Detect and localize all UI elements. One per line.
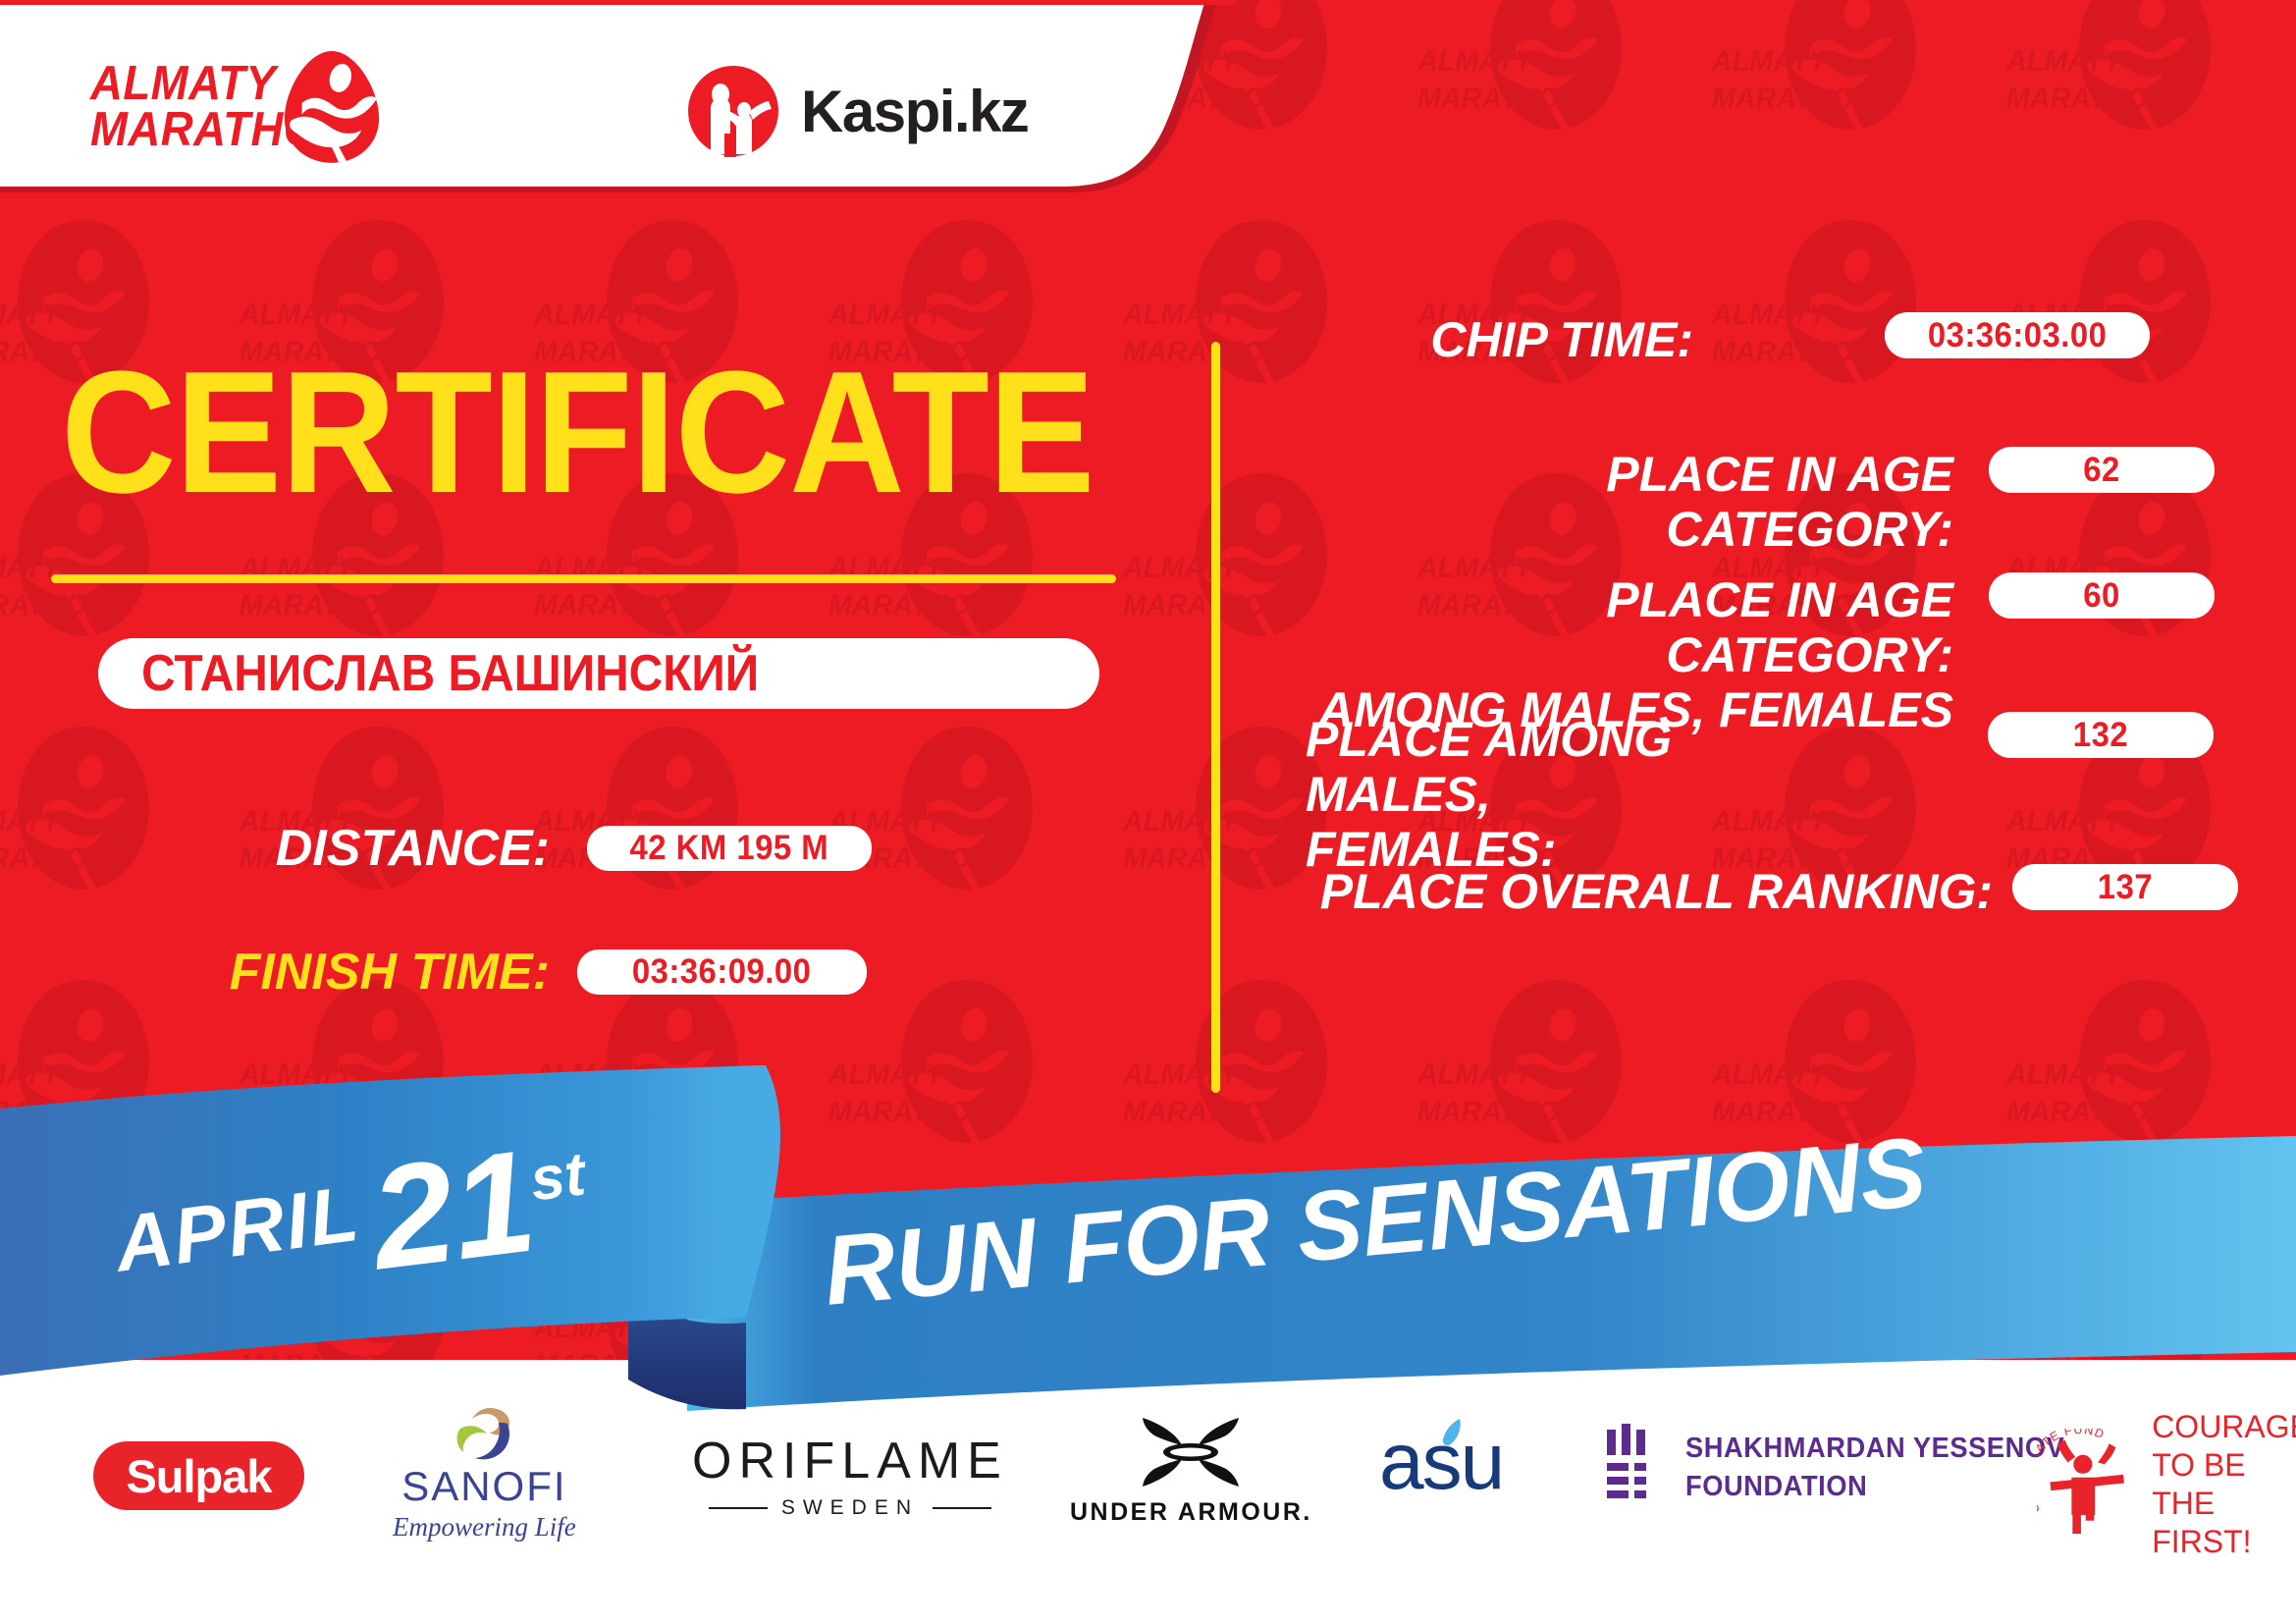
sponsor-logo-oriflame: ORIFLAME SWEDEN xyxy=(692,1432,1008,1520)
certificate-right-column: CHIP TIME: 03:36:03.00 PLACE IN AGE CATE… xyxy=(1217,295,2296,1110)
place-among-males-females-row: PLACE AMONG MALES, FEMALES: 132 xyxy=(1306,712,2214,877)
oriflame-rule-right xyxy=(933,1507,991,1509)
sanofi-wordmark: SANOFI xyxy=(401,1463,566,1510)
courage-wordmark: COURAGE TO BE THE FIRST! xyxy=(2152,1408,2296,1561)
certificate-canvas: ALMATY MARATHON ALMATY MARATHON xyxy=(0,0,2296,1624)
finish-time-value: 03:36:09.00 xyxy=(632,952,812,992)
distance-row: DISTANCE: 42 KM 195 M xyxy=(265,819,872,878)
finish-time-value-pill: 03:36:09.00 xyxy=(577,949,867,995)
chip-time-label: CHIP TIME: xyxy=(1306,312,1693,367)
place-age-category-value: 62 xyxy=(2083,451,2120,490)
sponsor-logo-asu: asu xyxy=(1379,1426,1526,1504)
title-underline-rule xyxy=(51,574,1116,583)
courage-runner-tape-icon: CORPORATE FUND xyxy=(2037,1429,2140,1542)
oriflame-rule-left xyxy=(709,1507,768,1509)
ribbon-day-label: 21st xyxy=(363,1111,598,1304)
place-overall-ranking-value: 137 xyxy=(2098,868,2153,907)
chip-time-value: 03:36:03.00 xyxy=(1928,316,2108,355)
oriflame-wordmark: ORIFLAME xyxy=(692,1432,1008,1490)
asu-leaf-icon xyxy=(1440,1418,1466,1447)
header-top-rule xyxy=(0,0,1237,5)
page-title: CERTIFICATE xyxy=(61,346,1094,519)
ribbon-month-label: APRIL xyxy=(110,1168,365,1290)
place-overall-ranking-label: PLACE OVERALL RANKING: xyxy=(1306,864,1993,919)
sulpak-pill-logo: Sulpak xyxy=(93,1441,304,1510)
sponsor-logo-row: Sulpak SANOFI Empowering Life ORIFLAME S… xyxy=(0,1394,2296,1610)
finish-time-label: FINISH TIME: xyxy=(187,943,550,1001)
place-age-category-among-value: 60 xyxy=(2083,576,2120,616)
sponsor-logo-sanofi: SANOFI Empowering Life xyxy=(393,1406,576,1543)
almaty-marathon-logo: ALMATY MARATHON xyxy=(90,47,385,167)
place-age-category-row: PLACE IN AGE CATEGORY: 62 xyxy=(1306,447,2215,557)
distance-value: 42 KM 195 M xyxy=(630,829,829,868)
teardrop-runner-icon xyxy=(279,49,385,165)
kaspi-family-circle-icon xyxy=(687,65,779,157)
kaspi-logo: Kaspi.kz xyxy=(687,57,1028,165)
ribbon-day-suffix: st xyxy=(527,1140,589,1214)
certificate-left-column: CERTIFICATE СТАНИСЛАВ БАШИНСКИЙ DISTANCE… xyxy=(0,295,1217,1110)
under-armour-mark-icon xyxy=(1133,1416,1249,1489)
sponsor-logo-under-armour: UNDER ARMOUR. xyxy=(1070,1416,1312,1527)
yessenov-wordmark: SHAKHMARDAN YESSENOV FOUNDATION xyxy=(1685,1430,2064,1506)
sulpak-wordmark: Sulpak xyxy=(126,1449,271,1503)
asu-logo-box: asu xyxy=(1379,1426,1526,1504)
place-age-category-label: PLACE IN AGE CATEGORY: xyxy=(1306,447,1953,557)
ribbon-day-number: 21 xyxy=(363,1120,544,1301)
ribbon-slogan: RUN FOR SENSATIONS xyxy=(820,1115,1931,1328)
chip-time-value-pill: 03:36:03.00 xyxy=(1885,312,2150,358)
place-among-males-females-value-pill: 132 xyxy=(1988,712,2214,758)
yessenov-bars-icon xyxy=(1605,1424,1662,1512)
sanofi-bird-icon xyxy=(451,1406,517,1461)
chip-time-row: CHIP TIME: 03:36:03.00 xyxy=(1306,312,2150,367)
athlete-name-field: СТАНИСЛАВ БАШИНСКИЙ xyxy=(98,638,1099,709)
place-age-category-among-value-pill: 60 xyxy=(1989,572,2215,619)
oriflame-sweden-line: SWEDEN xyxy=(709,1496,991,1520)
place-among-males-females-value: 132 xyxy=(2073,716,2128,755)
distance-value-pill: 42 KM 195 M xyxy=(587,826,872,871)
place-overall-ranking-value-pill: 137 xyxy=(2012,864,2238,910)
sanofi-tagline: Empowering Life xyxy=(393,1512,576,1543)
kaspi-wordmark: Kaspi.kz xyxy=(801,78,1028,145)
place-overall-ranking-row: PLACE OVERALL RANKING: 137 xyxy=(1306,864,2238,919)
sponsor-logo-sulpak: Sulpak xyxy=(93,1441,304,1510)
sponsor-logo-yessenov-foundation: SHAKHMARDAN YESSENOV FOUNDATION xyxy=(1605,1424,2089,1512)
place-age-category-value-pill: 62 xyxy=(1989,447,2215,493)
finish-time-row: FINISH TIME: 03:36:09.00 xyxy=(187,943,867,1001)
oriflame-sweden-label: SWEDEN xyxy=(781,1496,919,1520)
sponsor-logo-courage-fund: CORPORATE FUND COURAGE TO BE THE FIRST! xyxy=(2037,1408,2296,1561)
athlete-name-value: СТАНИСЛАВ БАШИНСКИЙ xyxy=(98,644,759,703)
distance-label: DISTANCE: xyxy=(265,819,550,878)
place-among-males-females-label: PLACE AMONG MALES, FEMALES: xyxy=(1306,712,1836,877)
under-armour-wordmark: UNDER ARMOUR. xyxy=(1070,1498,1312,1527)
